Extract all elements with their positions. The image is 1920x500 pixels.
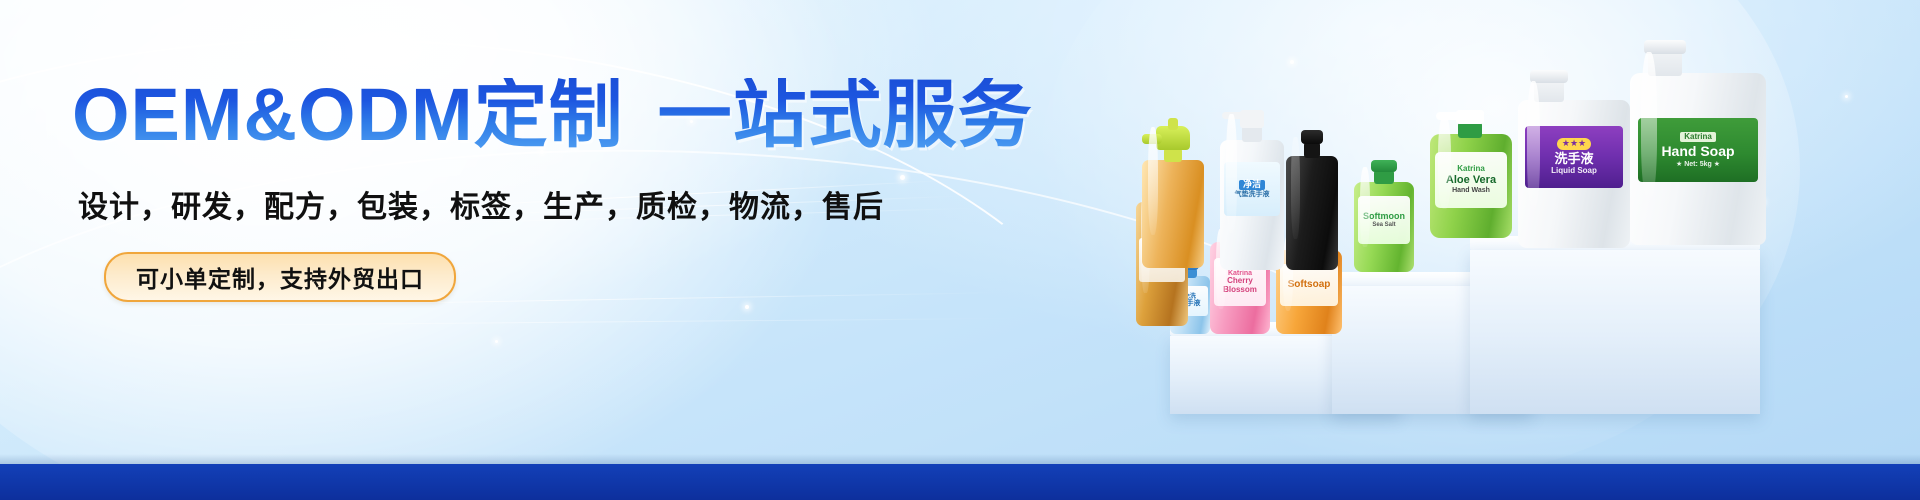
bottom-accent-bar [0,464,1920,500]
jerrycan-white-large: Katrina Hand Soap ★ Net: 5kg ★ [1630,40,1766,245]
service-list-subtitle: 设计，研发，配方，包装，标签，生产，质检，物流，售后 [78,182,884,226]
status-badge[interactable]: 可小单定制，支持外贸出口 [104,252,456,302]
headline-primary: OEM&ODM定制 [72,73,624,156]
headline-secondary: 一站式服务 [658,73,1033,156]
pump-bottle-black [1286,128,1338,270]
bottom-bar-shadow [0,454,1920,464]
pedestal-back [1470,250,1760,414]
page-title: OEM&ODM定制一站式服务 [72,78,1033,152]
banner-text-block: OEM&ODM定制一站式服务 设计，研发，配方，包装，标签，生产，质检，物流，售… [0,0,1100,500]
jerrycan-white-small: ★★★ 洗手液 Liquid Soap [1518,70,1630,248]
spray-bottle-green [1142,118,1204,268]
bottle-green-aloevera: Katrina Aloe Vera Hand Wash [1430,108,1512,238]
product-photo-group: Katrina Hand Soap ★ Net: 5kg ★ ★★★ 洗手液 L… [1100,0,1920,500]
pump-bottle-white: 净洁 气垫洗手液 [1220,104,1284,270]
bottle-green-softmoon: Softmoon Sea Salt [1354,160,1414,272]
promo-banner: OEM&ODM定制一站式服务 设计，研发，配方，包装，标签，生产，质检，物流，售… [0,0,1920,500]
